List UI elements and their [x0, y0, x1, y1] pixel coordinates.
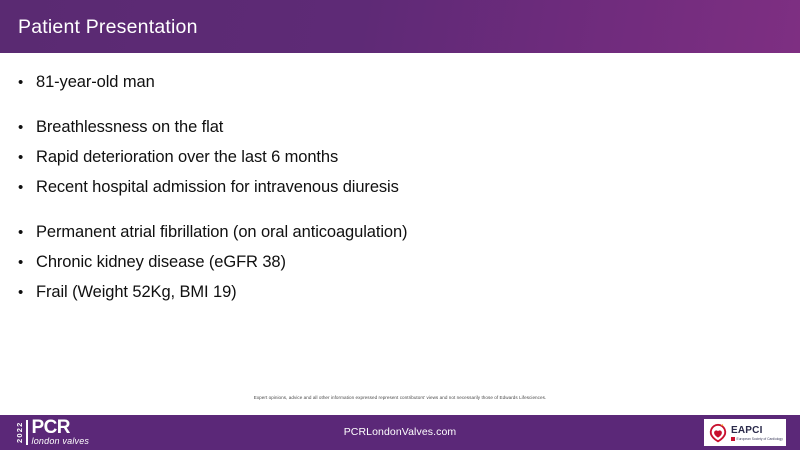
list-item: • Recent hospital admission for intraven…: [18, 175, 778, 200]
list-item-label: Frail (Weight 52Kg, BMI 19): [36, 280, 778, 304]
heart-shield-icon: [708, 423, 728, 443]
esc-square-icon: [731, 437, 735, 441]
bullet-dot-icon: •: [18, 146, 36, 170]
list-item: • Permanent atrial fibrillation (on oral…: [18, 220, 778, 245]
eapci-logo-subtitle: European Society of Cardiology: [737, 437, 783, 441]
list-item-label: Recent hospital admission for intravenou…: [36, 175, 778, 199]
slide: Patient Presentation • 81-year-old man •…: [0, 0, 800, 450]
list-item: • Rapid deterioration over the last 6 mo…: [18, 145, 778, 170]
bullet-dot-icon: •: [18, 71, 36, 95]
eapci-logo: EAPCI European Society of Cardiology: [704, 419, 786, 446]
bullet-group: • 81-year-old man: [18, 70, 778, 95]
footer-website-url[interactable]: PCRLondonValves.com: [0, 426, 800, 438]
list-item-label: Breathlessness on the flat: [36, 115, 778, 139]
list-item: • Breathlessness on the flat: [18, 115, 778, 140]
list-item-label: Rapid deterioration over the last 6 mont…: [36, 145, 778, 169]
list-item: • Chronic kidney disease (eGFR 38): [18, 250, 778, 275]
bullet-dot-icon: •: [18, 116, 36, 140]
bullet-dot-icon: •: [18, 221, 36, 245]
bullet-content: • 81-year-old man • Breathlessness on th…: [18, 70, 778, 305]
eapci-logo-text: EAPCI European Society of Cardiology: [728, 425, 783, 441]
list-item: • Frail (Weight 52Kg, BMI 19): [18, 280, 778, 305]
list-item: • 81-year-old man: [18, 70, 778, 95]
list-item-label: Permanent atrial fibrillation (on oral a…: [36, 220, 778, 244]
eapci-logo-subtitle-row: European Society of Cardiology: [731, 437, 783, 441]
bullet-dot-icon: •: [18, 176, 36, 200]
list-item-label: 81-year-old man: [36, 70, 778, 94]
bullet-dot-icon: •: [18, 251, 36, 275]
bullet-dot-icon: •: [18, 281, 36, 305]
eapci-logo-name: EAPCI: [731, 425, 783, 436]
list-item-label: Chronic kidney disease (eGFR 38): [36, 250, 778, 274]
bullet-group: • Breathlessness on the flat • Rapid det…: [18, 115, 778, 200]
disclaimer-text: Expert opinions, advice and all other in…: [0, 394, 800, 401]
page-title: Patient Presentation: [18, 16, 198, 39]
bullet-group: • Permanent atrial fibrillation (on oral…: [18, 220, 778, 305]
